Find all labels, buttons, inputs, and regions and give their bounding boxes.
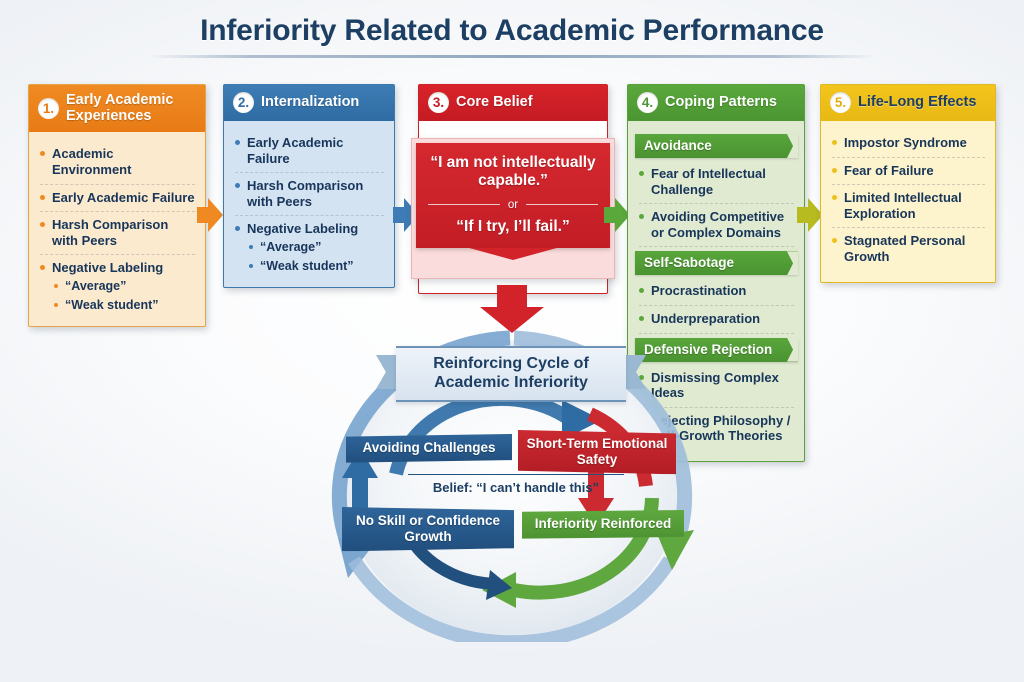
bullet-icon [832,195,837,200]
list-item[interactable]: Early Academic Failure [235,130,384,173]
stage-panel-life-long-effects[interactable]: 5. Life-Long Effects Impostor Syndrome F… [820,84,996,283]
list-item[interactable]: “Average” [54,277,195,296]
panel-title: Internalization [261,94,359,110]
bullet-icon [249,264,253,268]
list-item[interactable]: Impostor Syndrome [832,130,985,158]
list-item-label: Negative Labeling [52,260,163,276]
list-item[interactable]: Procrastination [639,278,794,306]
bullet-icon [832,238,837,243]
panel-title: Core Belief [456,94,533,110]
bullet-icon [639,171,644,176]
list-item[interactable]: Limited Intellectual Exploration [832,185,985,228]
bullet-icon [54,303,58,307]
stage-panel-internalization[interactable]: 2. Internalization Early Academic Failur… [223,84,395,288]
bullet-icon [235,226,240,231]
step-number-badge: 5. [830,92,851,113]
panel-header: 2. Internalization [224,85,394,121]
list-item-label: Academic Environment [52,146,195,177]
header: Inferiority Related to Academic Performa… [0,14,1024,58]
panel-body: Early Academic Failure Harsh Comparison … [224,121,394,287]
list-item[interactable]: Fear of Intellectual Challenge [639,161,794,204]
step-number-badge: 4. [637,92,658,113]
section-heading-avoidance: Avoidance [635,134,798,158]
connector-arrow-1-2 [197,198,223,232]
bullet-icon [54,284,58,288]
list-item-label: “Average” [65,279,126,294]
step-number-badge: 1. [38,98,59,119]
step-number-badge: 2. [233,92,254,113]
list-item[interactable]: Fear of Failure [832,158,985,186]
bullet-icon [40,195,45,200]
quote-tail-chevron-icon [412,248,614,278]
list-item[interactable]: Negative Labeling [235,216,384,238]
panel-title: Life-Long Effects [858,94,976,110]
bullet-icon [235,183,240,188]
bullet-icon [639,214,644,219]
bullet-icon [639,288,644,293]
reinforcing-cycle-diagram: Reinforcing Cycle of Academic Inferiorit… [300,322,720,642]
list-item-label: Fear of Intellectual Challenge [651,166,794,197]
list-item-label: Harsh Comparison with Peers [247,178,384,209]
page-title: Inferiority Related to Academic Performa… [0,14,1024,48]
cycle-node-short-term-emotional-safety[interactable]: Short-Term Emotional Safety [518,430,676,474]
list-item-label: “Weak student” [260,259,354,274]
bullet-icon [639,316,644,321]
list-item-label: Early Academic Failure [52,190,195,206]
panel-body: Impostor Syndrome Fear of Failure Limite… [821,121,995,282]
sub-list: “Average” “Weak student” [235,238,384,276]
list-item[interactable]: “Weak student” [54,296,195,315]
list-item[interactable]: Early Academic Failure [40,185,195,213]
stage-panel-early-academic-experiences[interactable]: 1. Early Academic Experiences Academic E… [28,84,206,327]
bullet-icon [832,168,837,173]
bullet-icon [235,140,240,145]
bullet-icon [249,245,253,249]
list-item[interactable]: Avoiding Competitive or Complex Domains [639,204,794,247]
quote-line-1: “I am not intellectually capable.” [426,154,600,191]
panel-header: 4. Coping Patterns [628,85,804,121]
cycle-node-no-skill-or-confidence-growth[interactable]: No Skill or Confidence Growth [342,507,514,551]
list-item-label: “Average” [260,240,321,255]
core-belief-quote: “I am not intellectually capable.” or “I… [416,143,610,248]
list-item-label: Fear of Failure [844,163,934,179]
cycle-banner-text: Reinforcing Cycle of Academic Inferiorit… [396,346,626,402]
list-item[interactable]: Negative Labeling [40,255,195,277]
cycle-banner-line-2: Academic Inferiority [404,374,618,393]
quote-separator-or: or [428,199,598,211]
cycle-node-inferiority-reinforced[interactable]: Inferiority Reinforced [522,510,684,539]
panel-header: 3. Core Belief [419,85,607,121]
cycle-banner: Reinforcing Cycle of Academic Inferiorit… [396,346,626,402]
title-divider [147,55,877,58]
cycle-node-avoiding-challenges[interactable]: Avoiding Challenges [346,434,512,463]
step-number-badge: 3. [428,92,449,113]
list-item-label: Harsh Comparison with Peers [52,217,195,248]
list-item-label: Procrastination [651,283,746,299]
sub-list: “Average” “Weak student” [40,277,195,315]
list-item-label: Avoiding Competitive or Complex Domains [651,209,794,240]
list-item-label: Impostor Syndrome [844,135,967,151]
panel-header: 5. Life-Long Effects [821,85,995,121]
list-item-label: “Weak student” [65,298,159,313]
quote-line-2: “If I try, I’ll fail.” [426,218,600,236]
bullet-icon [40,151,45,156]
bullet-icon [832,140,837,145]
cycle-belief-label: Belief: “I can’t handle this” [408,474,624,495]
panel-title: Early Academic Experiences [66,92,196,124]
list-item-label: Stagnated Personal Growth [844,233,985,264]
list-item[interactable]: Harsh Comparison with Peers [40,212,195,255]
list-item-label: Negative Labeling [247,221,358,237]
list-item[interactable]: Stagnated Personal Growth [832,228,985,270]
bullet-icon [40,222,45,227]
panel-header: 1. Early Academic Experiences [29,85,205,132]
panel-body: Academic Environment Early Academic Fail… [29,132,205,326]
core-belief-quote-block: “I am not intellectually capable.” or “I… [411,138,615,279]
list-item[interactable]: “Average” [249,238,384,257]
list-item-label: Early Academic Failure [247,135,384,166]
section-heading-self-sabotage: Self-Sabotage [635,251,798,275]
list-item[interactable]: Academic Environment [40,141,195,184]
list-item[interactable]: “Weak student” [249,257,384,276]
arrow-head-icon [208,198,223,232]
list-item[interactable]: Harsh Comparison with Peers [235,173,384,216]
arrow-shaft [497,285,527,309]
panel-title: Coping Patterns [665,94,777,110]
bullet-icon [40,265,45,270]
cycle-banner-line-1: Reinforcing Cycle of [404,355,618,374]
list-item-label: Limited Intellectual Exploration [844,190,985,221]
